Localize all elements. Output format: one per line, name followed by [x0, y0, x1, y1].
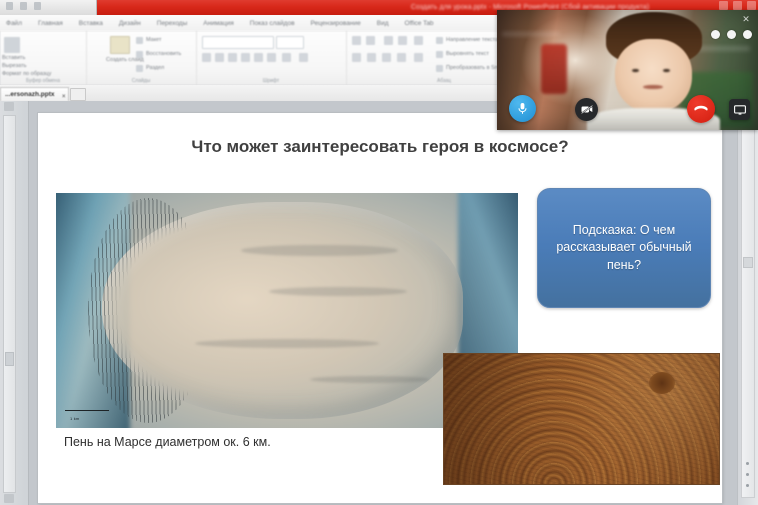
quick-access-icons [6, 2, 41, 10]
align-left-button[interactable] [352, 53, 361, 62]
dot-2-icon [727, 30, 736, 39]
italic-button[interactable] [215, 53, 224, 62]
save-icon[interactable] [6, 2, 13, 10]
font-color-button[interactable] [299, 53, 308, 62]
shadow-button[interactable] [241, 53, 250, 62]
font-name-box[interactable] [202, 36, 274, 49]
document-tab-active[interactable]: ...ersonazh.pptx × [0, 87, 69, 101]
increase-indent-button[interactable] [398, 36, 407, 45]
format-painter-label[interactable]: Формат по образцу [2, 71, 51, 77]
window-buttons [719, 1, 756, 10]
right-scrollbar[interactable] [741, 106, 755, 498]
strikethrough-button[interactable] [254, 53, 263, 62]
slide-canvas[interactable]: Что может заинтересовать героя в космосе… [38, 113, 722, 503]
align-center-button[interactable] [367, 53, 376, 62]
close-icon[interactable]: ✕ [740, 13, 752, 25]
powerpoint-window: Создать для урока.pptx - Microsoft Power… [0, 0, 758, 505]
slide-panel-rail [0, 101, 29, 505]
reset-icon[interactable] [136, 51, 143, 58]
character-spacing-button[interactable] [267, 53, 276, 62]
mars-crater-rim [88, 198, 208, 424]
ribbon-group-font: Шрифт [196, 31, 347, 85]
tab-review[interactable]: Рецензирование [311, 20, 361, 27]
screen-share-button[interactable] [729, 99, 750, 120]
tab-home[interactable]: Главная [38, 20, 63, 27]
reset-label[interactable]: Восстановить [146, 51, 181, 57]
video-call-window[interactable]: ✕ [497, 10, 758, 130]
align-text-label[interactable]: Выровнять текст [446, 51, 489, 57]
hint-box-text: Подсказка: О чем рассказывает обычный пе… [538, 222, 710, 274]
scale-bar-label: 1 km [70, 416, 79, 421]
layout-icon[interactable] [136, 37, 143, 44]
new-slide-icon[interactable] [110, 36, 130, 54]
underline-button[interactable] [228, 53, 237, 62]
line-spacing-button[interactable] [414, 36, 423, 45]
end-call-icon [694, 102, 708, 116]
ribbon-group-slides: Создать слайд Макет Восстановить Раздел … [86, 31, 197, 85]
undo-icon[interactable] [20, 2, 27, 10]
minimize-button[interactable] [719, 1, 728, 10]
end-call-button[interactable] [687, 95, 715, 123]
group-label-slides: Слайды [86, 78, 196, 84]
align-text-icon[interactable] [436, 51, 443, 58]
bold-button[interactable] [202, 53, 211, 62]
mars-streak-3 [195, 339, 380, 348]
restore-button[interactable] [733, 1, 742, 10]
cut-label[interactable]: Вырезать [2, 63, 26, 69]
left-scrollbar[interactable] [3, 115, 16, 493]
mars-caption[interactable]: Пень на Марсе диаметром ок. 6 км. [64, 435, 271, 449]
section-icon[interactable] [136, 65, 143, 72]
section-label[interactable]: Раздел [146, 65, 164, 71]
text-direction-label[interactable]: Направление текста [446, 37, 498, 43]
numbering-button[interactable] [366, 36, 375, 45]
scale-bar [65, 410, 109, 412]
tab-insert[interactable]: Вставка [79, 20, 103, 27]
panel-collapse-icon[interactable] [4, 102, 14, 111]
dot-3-icon [743, 30, 752, 39]
close-button[interactable] [747, 1, 756, 10]
camera-off-icon [581, 105, 593, 114]
change-case-button[interactable] [282, 53, 291, 62]
tab-office-tab[interactable]: Office Tab [405, 20, 434, 27]
editing-workspace: Что может заинтересовать героя в космосе… [0, 101, 758, 505]
microphone-button[interactable] [509, 95, 536, 122]
tab-animation[interactable]: Анимация [203, 20, 234, 27]
document-tab-label: ...ersonazh.pptx [5, 91, 54, 98]
quick-access-toolbar [0, 0, 97, 15]
justify-button[interactable] [397, 53, 406, 62]
align-right-button[interactable] [382, 53, 391, 62]
ribbon-group-clipboard: Вставить Вырезать Формат по образцу Буфе… [0, 31, 87, 85]
smartart-icon[interactable] [436, 65, 443, 72]
group-label-font: Шрифт [196, 78, 346, 84]
layout-label[interactable]: Макет [146, 37, 162, 43]
previous-slide-icon[interactable] [746, 462, 749, 465]
dot-1-icon [711, 30, 720, 39]
tab-slideshow[interactable]: Показ слайдов [250, 20, 295, 27]
tab-view[interactable]: Вид [377, 20, 389, 27]
microphone-icon [517, 102, 528, 115]
slide-navigator-icon[interactable] [746, 473, 749, 476]
text-direction-icon[interactable] [436, 37, 443, 44]
right-rail [737, 101, 758, 505]
tab-file[interactable]: Файл [6, 20, 22, 27]
paste-icon[interactable] [4, 37, 20, 53]
group-label-clipboard: Буфер обмена [0, 78, 86, 84]
bullets-button[interactable] [352, 36, 361, 45]
columns-button[interactable] [414, 53, 423, 62]
right-scrollbar-thumb[interactable] [743, 257, 753, 268]
panel-expand-icon[interactable] [4, 494, 14, 503]
tree-rings-grain [444, 354, 719, 484]
tab-transitions[interactable]: Переходы [157, 20, 188, 27]
screen-share-icon [734, 105, 746, 115]
redo-icon[interactable] [34, 2, 41, 10]
slide-title[interactable]: Что может заинтересовать героя в космосе… [38, 137, 722, 157]
left-scrollbar-thumb[interactable] [5, 352, 14, 366]
paste-label[interactable]: Вставить [2, 55, 25, 61]
new-tab-button[interactable] [70, 88, 86, 101]
tab-design[interactable]: Дизайн [119, 20, 141, 27]
tree-rings-image[interactable] [444, 354, 719, 484]
next-slide-icon[interactable] [746, 484, 749, 487]
more-options-icon[interactable] [711, 30, 752, 39]
decrease-indent-button[interactable] [384, 36, 393, 45]
call-controls [497, 94, 758, 126]
hint-box[interactable]: Подсказка: О чем рассказывает обычный пе… [537, 188, 711, 308]
camera-button[interactable] [575, 98, 598, 121]
font-size-box[interactable] [276, 36, 304, 49]
